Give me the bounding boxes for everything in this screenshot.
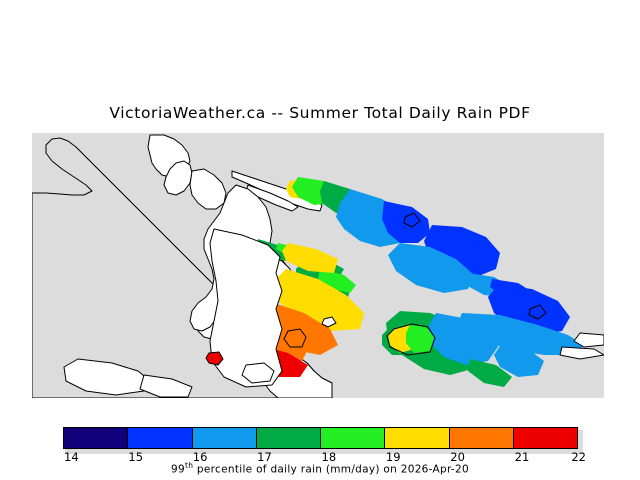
caption-rest: percentile of daily rain (mm/day) on 202… [193,464,469,476]
page-title: VictoriaWeather.ca -- Summer Total Daily… [0,104,640,122]
colorbar-segment-15-16 [128,428,192,448]
northwest-islands [148,135,226,209]
colorbar [63,427,578,449]
colorbar-segment-17-18 [257,428,321,448]
map-svg [32,133,604,398]
colorbar-segment-21-22 [514,428,577,448]
colorbar-segment-14-15 [64,428,128,448]
colorbar-segment-19-20 [385,428,449,448]
caption-prefix: 99 [171,464,185,476]
map-panel [32,133,604,398]
colorbar-segment-18-19 [321,428,385,448]
north-island-patches [286,177,430,247]
colorbar-segments [63,427,578,449]
colorbar-caption: 99th percentile of daily rain (mm/day) o… [0,461,640,476]
screenshot-root: VictoriaWeather.ca -- Summer Total Daily… [0,0,640,480]
west-white-mask [210,229,282,387]
colorbar-segment-20-21 [450,428,514,448]
colorbar-segment-16-17 [193,428,257,448]
